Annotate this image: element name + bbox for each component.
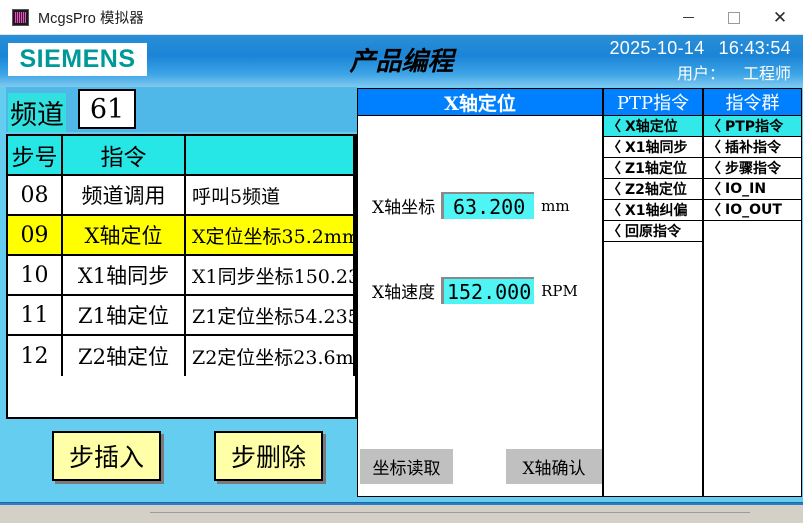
application-window: McgsPro 模拟器 ✕ SIEMENS 产品编程 2025-10-1416:… [0,0,803,523]
ptp-list-item-z1-position[interactable]: 〈 Z1轴定位 [604,158,702,179]
chevron-left-icon: 〈 [607,200,621,220]
ptp-list-item-label: 回原指令 [625,221,681,241]
chevron-left-icon: 〈 [707,179,721,199]
read-coordinate-button[interactable]: 坐标读取 [360,449,453,484]
user-value: 工程师 [743,66,791,83]
chevron-left-icon: 〈 [707,137,721,157]
cell-step: 12 [8,336,63,376]
cell-command: X1轴同步 [63,256,186,294]
close-icon[interactable]: ✕ [757,0,803,35]
group-list-item-label: IO_IN [725,181,766,197]
x-coordinate-label: X轴坐标 [372,193,435,218]
time-display: 16:43:54 [719,38,791,58]
cell-step: 10 [8,256,63,294]
chevron-left-icon: 〈 [707,116,721,136]
x-speed-input[interactable]: 152.000 [441,277,534,304]
cell-command: Z2轴定位 [63,336,186,376]
group-list-title: 指令群 [704,89,801,116]
cell-command: X轴定位 [63,216,186,254]
cell-step: 08 [8,176,63,214]
app-icon [12,9,29,26]
cell-description: 呼叫5频道 [186,176,355,214]
ptp-list-item-x1-sync[interactable]: 〈 X1轴同步 [604,137,702,158]
chevron-left-icon: 〈 [707,158,721,178]
group-list-item-step[interactable]: 〈 步骤指令 [704,158,801,179]
cell-command: 频道调用 [63,176,186,214]
ptp-list-item-label: Z1轴定位 [625,158,687,178]
table-header-row: 步号 指令 [8,136,355,176]
date-display: 2025-10-14 [609,38,704,58]
chevron-left-icon: 〈 [607,221,621,241]
minimize-icon[interactable] [665,0,711,35]
x-speed-field: X轴速度 152.000 RPM [372,277,578,304]
user-label: 用户： [677,66,725,83]
hmi-header: SIEMENS 产品编程 2025-10-1416:43:54 用户：工程师 [0,35,803,87]
datetime-user-block: 2025-10-1416:43:54 用户：工程师 [609,38,791,84]
table-row-selected[interactable]: 09 X轴定位 X定位坐标35.2mm, X [8,216,355,256]
status-strip [0,505,803,523]
cell-description: X定位坐标35.2mm, X [186,216,355,254]
column-header-step: 步号 [8,136,63,174]
cell-command: Z1轴定位 [63,296,186,334]
cell-description: X1同步坐标150.23m [186,256,355,294]
group-list-item-label: 插补指令 [725,137,781,157]
ptp-list-item-home[interactable]: 〈 回原指令 [604,221,702,242]
column-header-description [186,136,355,174]
group-list-item-label: IO_OUT [725,202,782,218]
x-axis-position-dialog: X轴定位 X轴坐标 63.200 mm X轴速度 152.000 RPM 坐标读… [357,88,603,497]
table-row[interactable]: 08 频道调用 呼叫5频道 [8,176,355,216]
ptp-list-item-z2-position[interactable]: 〈 Z2轴定位 [604,179,702,200]
x-coordinate-field: X轴坐标 63.200 mm [372,192,570,219]
ptp-list-item-label: X1轴纠偏 [625,200,688,220]
window-title-bar: McgsPro 模拟器 ✕ [0,0,803,35]
cell-description: Z1定位坐标54.235m [186,296,355,334]
ptp-list-item-label: Z2轴定位 [625,179,687,199]
command-group-list: 指令群 〈 PTP指令 〈 插补指令 〈 步骤指令 〈 IO_IN 〈 IO_O… [703,88,802,497]
x-speed-unit: RPM [541,282,578,300]
table-row[interactable]: 10 X1轴同步 X1同步坐标150.23m [8,256,355,296]
channel-bar: 频道 61 [6,87,357,132]
x-speed-label: X轴速度 [372,278,435,303]
column-header-command: 指令 [63,136,186,174]
x-coordinate-unit: mm [541,197,569,215]
x-axis-confirm-button[interactable]: X轴确认 [506,449,602,484]
maximize-icon[interactable] [711,0,757,35]
program-table: 步号 指令 08 频道调用 呼叫5频道 09 X轴定位 X定位坐标35.2mm,… [6,134,357,419]
ptp-list-title: PTP指令 [604,89,702,116]
group-list-item-label: PTP指令 [725,116,783,136]
chevron-left-icon: 〈 [707,200,721,220]
group-list-item-interpolation[interactable]: 〈 插补指令 [704,137,801,158]
cell-step: 09 [8,216,63,254]
cell-step: 11 [8,296,63,334]
chevron-left-icon: 〈 [607,137,621,157]
ptp-list-item-x1-correction[interactable]: 〈 X1轴纠偏 [604,200,702,221]
ptp-command-list: PTP指令 〈 X轴定位 〈 X1轴同步 〈 Z1轴定位 〈 Z2轴定位 〈 X… [603,88,703,497]
ptp-list-item-label: X轴定位 [625,116,678,136]
chevron-left-icon: 〈 [607,116,621,136]
group-list-item-io-in[interactable]: 〈 IO_IN [704,179,801,200]
group-list-item-ptp[interactable]: 〈 PTP指令 [704,116,801,137]
status-strip-divider [150,512,750,522]
dialog-title: X轴定位 [358,89,602,116]
ptp-list-item-x-axis-position[interactable]: 〈 X轴定位 [604,116,702,137]
hmi-screen: SIEMENS 产品编程 2025-10-1416:43:54 用户：工程师 频… [0,35,803,505]
x-coordinate-input[interactable]: 63.200 [441,192,534,219]
group-list-item-io-out[interactable]: 〈 IO_OUT [704,200,801,221]
ptp-list-item-label: X1轴同步 [625,137,688,157]
channel-value-input[interactable]: 61 [78,89,136,129]
table-row[interactable]: 11 Z1轴定位 Z1定位坐标54.235m [8,296,355,336]
group-list-item-label: 步骤指令 [725,158,781,178]
chevron-left-icon: 〈 [607,179,621,199]
cell-description: Z2定位坐标23.6mm, [186,336,355,376]
channel-label: 频道 [8,93,66,132]
window-controls: ✕ [665,0,803,35]
chevron-left-icon: 〈 [607,158,621,178]
window-title: McgsPro 模拟器 [38,7,144,28]
step-delete-button[interactable]: 步删除 [214,431,323,481]
table-row[interactable]: 12 Z2轴定位 Z2定位坐标23.6mm, [8,336,355,376]
step-insert-button[interactable]: 步插入 [52,431,161,481]
